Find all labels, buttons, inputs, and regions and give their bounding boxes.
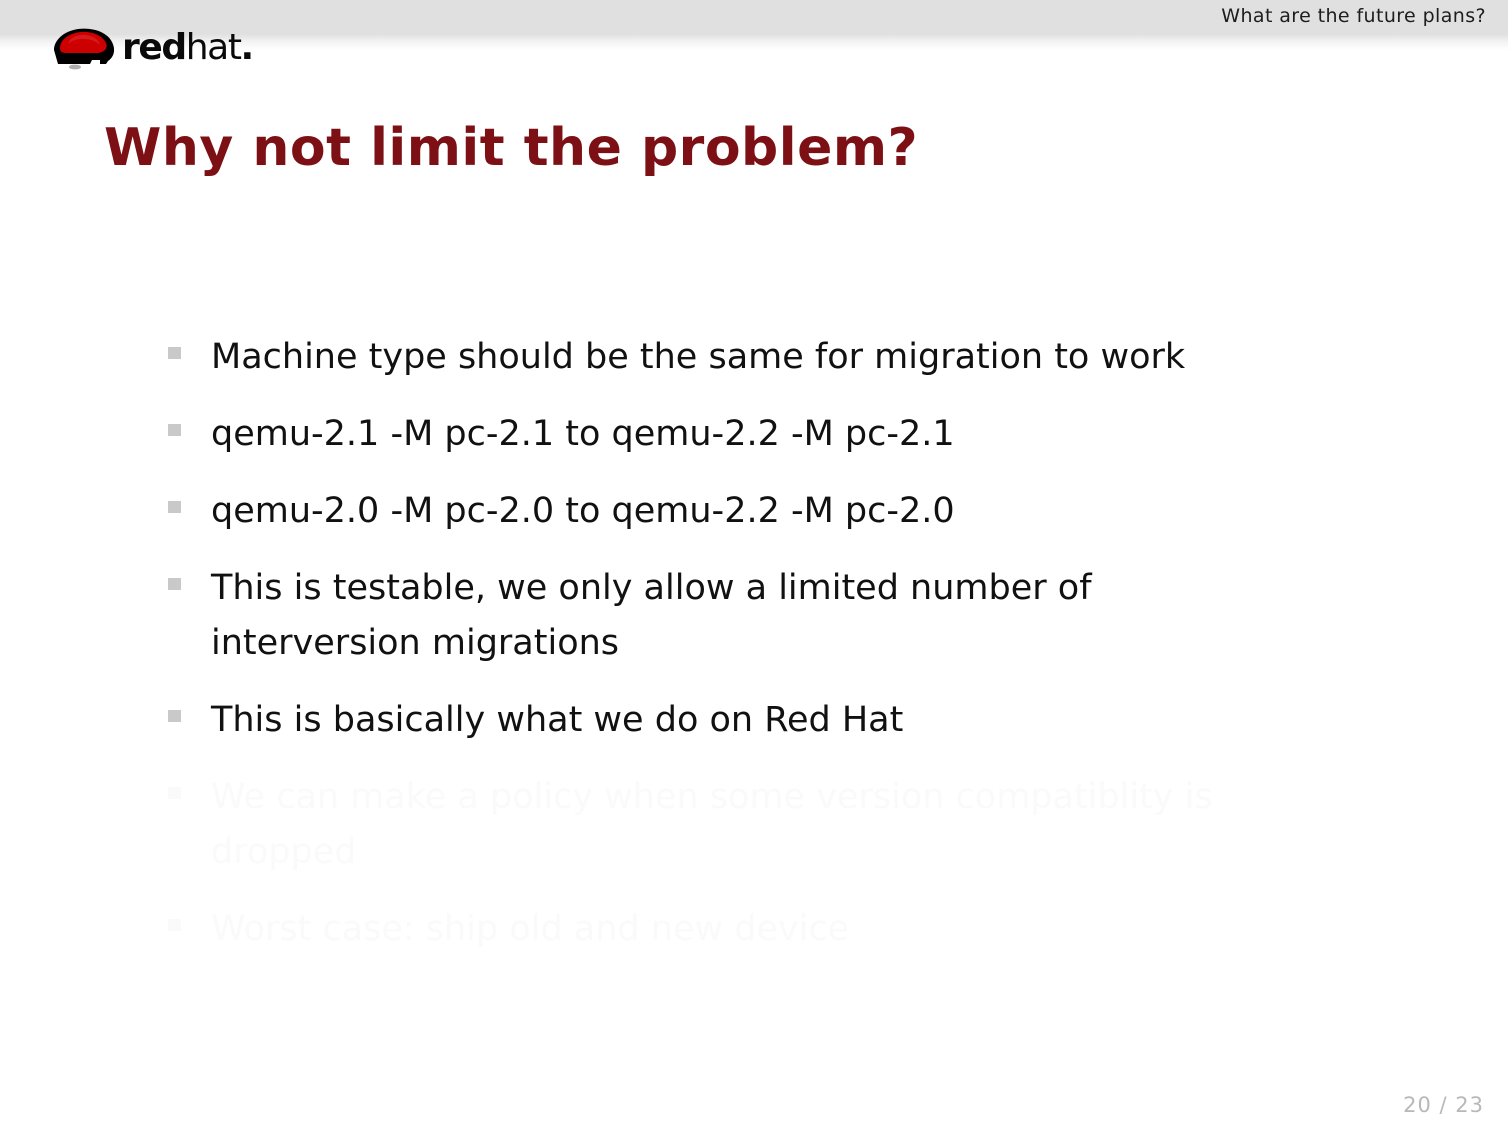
bullet-square-icon bbox=[168, 710, 181, 722]
list-item-label: Worst case: ship old and new device bbox=[211, 902, 1221, 957]
bullet-square-icon bbox=[168, 787, 181, 799]
list-item: Machine type should be the same for migr… bbox=[168, 330, 1348, 385]
list-item: qemu-2.1 -M pc-2.1 to qemu-2.2 -M pc-2.1 bbox=[168, 407, 1348, 462]
list-item-label: This is testable, we only allow a limite… bbox=[211, 561, 1221, 671]
page-title: Why not limit the problem? bbox=[104, 118, 918, 178]
redhat-logo: redhat. bbox=[48, 24, 288, 76]
list-item-label: Machine type should be the same for migr… bbox=[211, 330, 1221, 385]
page-number-indicator: 20 / 23 bbox=[1403, 1093, 1484, 1117]
list-item: qemu-2.0 -M pc-2.0 to qemu-2.2 -M pc-2.0 bbox=[168, 484, 1348, 539]
list-item-label: qemu-2.1 -M pc-2.1 to qemu-2.2 -M pc-2.1 bbox=[211, 407, 1221, 462]
list-item: This is testable, we only allow a limite… bbox=[168, 561, 1348, 671]
bullet-list: Machine type should be the same for migr… bbox=[168, 330, 1348, 979]
list-item-label: We can make a policy when some version c… bbox=[211, 770, 1221, 880]
bullet-square-icon bbox=[168, 578, 181, 590]
list-item-label: qemu-2.0 -M pc-2.0 to qemu-2.2 -M pc-2.0 bbox=[211, 484, 1221, 539]
list-item-upcoming: We can make a policy when some version c… bbox=[168, 770, 1348, 880]
bullet-square-icon bbox=[168, 501, 181, 513]
redhat-shadowman-icon bbox=[48, 24, 126, 72]
bullet-square-icon bbox=[168, 919, 181, 931]
list-item-label: This is basically what we do on Red Hat bbox=[211, 693, 1221, 748]
bullet-square-icon bbox=[168, 347, 181, 359]
bullet-square-icon bbox=[168, 424, 181, 436]
section-header-title: What are the future plans? bbox=[1221, 5, 1486, 27]
wordmark-hat: hat bbox=[186, 27, 241, 68]
list-item: This is basically what we do on Red Hat bbox=[168, 693, 1348, 748]
redhat-wordmark: redhat. bbox=[122, 28, 253, 68]
wordmark-dot: . bbox=[241, 27, 253, 68]
wordmark-red: red bbox=[122, 27, 186, 68]
slide-canvas: What are the future plans? redhat. Why n… bbox=[0, 0, 1508, 1131]
list-item-upcoming: Worst case: ship old and new device bbox=[168, 902, 1348, 957]
